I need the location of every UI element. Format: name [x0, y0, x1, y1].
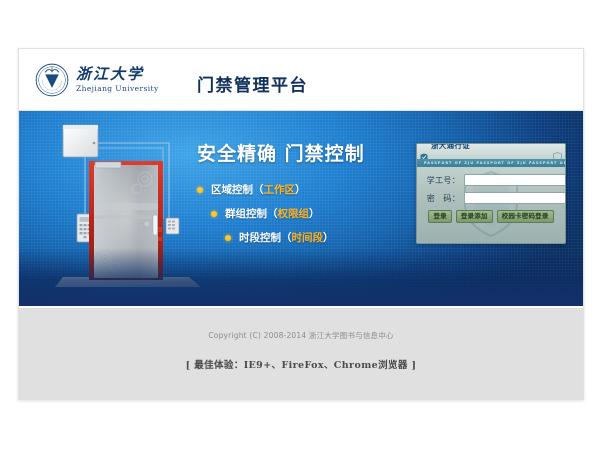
- login-button[interactable]: 登录: [428, 210, 451, 223]
- logo-chinese-name: 浙江大学: [76, 66, 159, 83]
- login-panel-title: 浙大通行证: [431, 143, 470, 150]
- site-footer: Copyright (C) 2008-2014 浙江大学图书与信息中心 [ 最佳…: [19, 306, 583, 400]
- bullet-dot-icon: [211, 211, 217, 217]
- login-panel: 浙大通行证 PASSPORT OF ZJU PASSPORT OF ZJU PA…: [416, 143, 566, 244]
- login-panel-header: 浙大通行证 PASSPORT OF ZJU: [417, 144, 565, 159]
- access-control-door-illustration: [41, 119, 211, 301]
- hero-feature-list: 区域控制（工作区） 群组控制（权限组） 时段控制（时间段）: [197, 182, 412, 245]
- bullet-dot-icon: [225, 235, 231, 241]
- campus-card-login-button[interactable]: 校园卡密码登录: [497, 210, 554, 223]
- student-staff-id-field[interactable]: [464, 174, 566, 186]
- bullet-dot-icon: [197, 187, 203, 193]
- password-label: 密 码：: [425, 193, 464, 204]
- login-add-button[interactable]: 登录添加: [456, 210, 493, 223]
- shield-icon: [420, 147, 428, 156]
- passport-pattern-strip: PASSPORT OF ZJU PASSPORT OF ZJU PASSPORT…: [417, 159, 565, 167]
- list-item: 区域控制（工作区）: [197, 182, 412, 197]
- password-row: 密 码：: [425, 192, 557, 204]
- page-title: 门禁管理平台: [197, 71, 308, 96]
- copyright-text: Copyright (C) 2008-2014 浙江大学图书与信息中心: [19, 330, 583, 341]
- student-staff-id-row: 学工号：: [425, 174, 557, 186]
- page-root: 浙江大学 Zhejiang University 门禁管理平台: [0, 0, 600, 450]
- feature-text: 区域控制（: [211, 182, 264, 197]
- footer-content: Copyright (C) 2008-2014 浙江大学图书与信息中心 [ 最佳…: [19, 330, 583, 371]
- feature-text: 时段控制（: [239, 230, 292, 245]
- password-field[interactable]: [464, 192, 566, 204]
- feature-tail: ）: [295, 182, 306, 197]
- browser-support-note: [ 最佳体验：IE9+、FireFox、Chrome浏览器 ]: [19, 357, 583, 371]
- list-item: 时段控制（时间段）: [225, 230, 412, 245]
- feature-text: 群组控制（: [225, 206, 278, 221]
- feature-accent: 权限组: [278, 206, 310, 221]
- hero-banner: 安全精确 门禁控制 区域控制（工作区） 群组控制（权限组） 时段控制（时间段）: [19, 111, 583, 306]
- site-header: 浙江大学 Zhejiang University 门禁管理平台: [19, 49, 583, 111]
- student-staff-id-label: 学工号：: [425, 175, 464, 186]
- university-logo[interactable]: 浙江大学 Zhejiang University: [35, 63, 159, 97]
- list-item: 群组控制（权限组）: [211, 206, 412, 221]
- zju-seal-icon: [35, 63, 69, 97]
- logo-text-block: 浙江大学 Zhejiang University: [76, 66, 159, 94]
- logo-english-name: Zhejiang University: [76, 84, 159, 94]
- hero-headline: 安全精确 门禁控制: [197, 139, 412, 166]
- feature-accent: 工作区: [264, 182, 296, 197]
- shield-icon: [553, 147, 562, 157]
- feature-tail: ）: [309, 206, 320, 221]
- login-button-row: 登录 登录添加 校园卡密码登录: [425, 210, 557, 223]
- login-form: 学工号： 密 码： 登录 登录添加 校园卡密码登录: [417, 167, 565, 223]
- passport-strip-text: PASSPORT OF ZJU PASSPORT OF ZJU PASSPORT…: [417, 161, 565, 165]
- hero-copy: 安全精确 门禁控制 区域控制（工作区） 群组控制（权限组） 时段控制（时间段）: [197, 139, 412, 261]
- main-card: 浙江大学 Zhejiang University 门禁管理平台: [18, 48, 584, 400]
- feature-tail: ）: [323, 230, 334, 245]
- feature-accent: 时间段: [292, 230, 324, 245]
